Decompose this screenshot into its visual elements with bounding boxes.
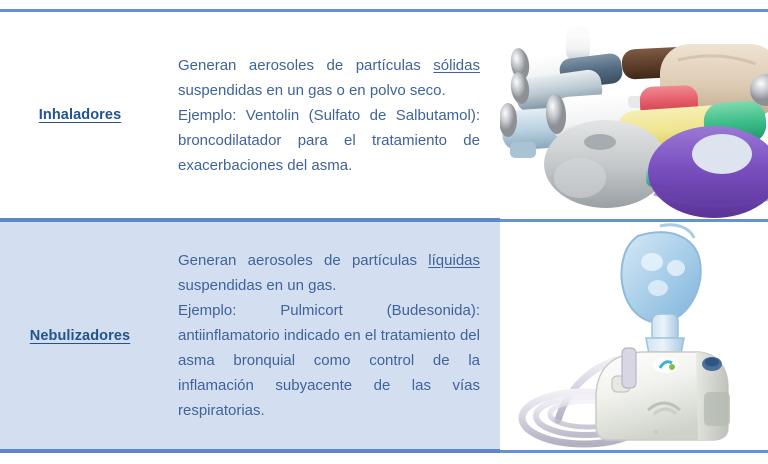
table-bottom-border-shaded [0,449,500,453]
row-image-cell-inhaladores [500,12,768,218]
paragraph-example: Ejemplo: Ventolin (Sulfato de Salbutamol… [178,103,480,178]
nebulizer-illustration [500,222,768,449]
text-segment: suspendidas en un gas. [178,277,336,294]
row-description-nebulizadores: Generan aerosoles de partículas líquidas… [178,248,480,423]
row-image-cell-nebulizadores [500,222,768,449]
text-segment: Ejemplo: Ventolin (Sulfato de Salbutamol… [178,107,480,174]
text-segment: Generan aerosoles de partículas [178,252,428,269]
text-segment-underlined: sólidas [433,57,480,74]
text-segment-underlined: líquidas [428,252,480,269]
paragraph-definition: Generan aerosoles de partículas líquidas… [178,248,480,298]
row-description-cell-nebulizadores: Generan aerosoles de partículas líquidas… [160,222,500,449]
row-description-cell-inhaladores: Generan aerosoles de partículas sólidas … [160,12,500,218]
comparison-table: Inhaladores Generan aerosoles de partícu… [0,0,768,464]
inhalers-illustration [500,12,768,218]
text-segment: suspendidas en un gas o en polvo seco. [178,82,446,99]
row-label-cell-nebulizadores: Nebulizadores [0,222,160,449]
row-label-nebulizadores: Nebulizadores [30,328,130,344]
nebulizer-photo [500,222,768,449]
row-description-inhaladores: Generan aerosoles de partículas sólidas … [178,53,480,178]
table-row-nebulizadores: Nebulizadores Generan aerosoles de partí… [0,222,768,449]
row-label-inhaladores: Inhaladores [39,107,122,123]
inhalers-photo [500,12,768,218]
table-row-inhaladores: Inhaladores Generan aerosoles de partícu… [0,12,768,218]
text-segment: Ejemplo: Pulmicort (Budesonida): antiinf… [178,302,480,419]
text-segment: Generan aerosoles de partículas [178,57,433,74]
nebulizer-compressor-body [596,348,730,440]
inhaler-cap-white [566,27,590,60]
paragraph-example: Ejemplo: Pulmicort (Budesonida): antiinf… [178,298,480,423]
row-label-cell-inhaladores: Inhaladores [0,12,160,218]
nebulizer-mask [622,225,701,323]
paragraph-definition: Generan aerosoles de partículas sólidas … [178,53,480,103]
